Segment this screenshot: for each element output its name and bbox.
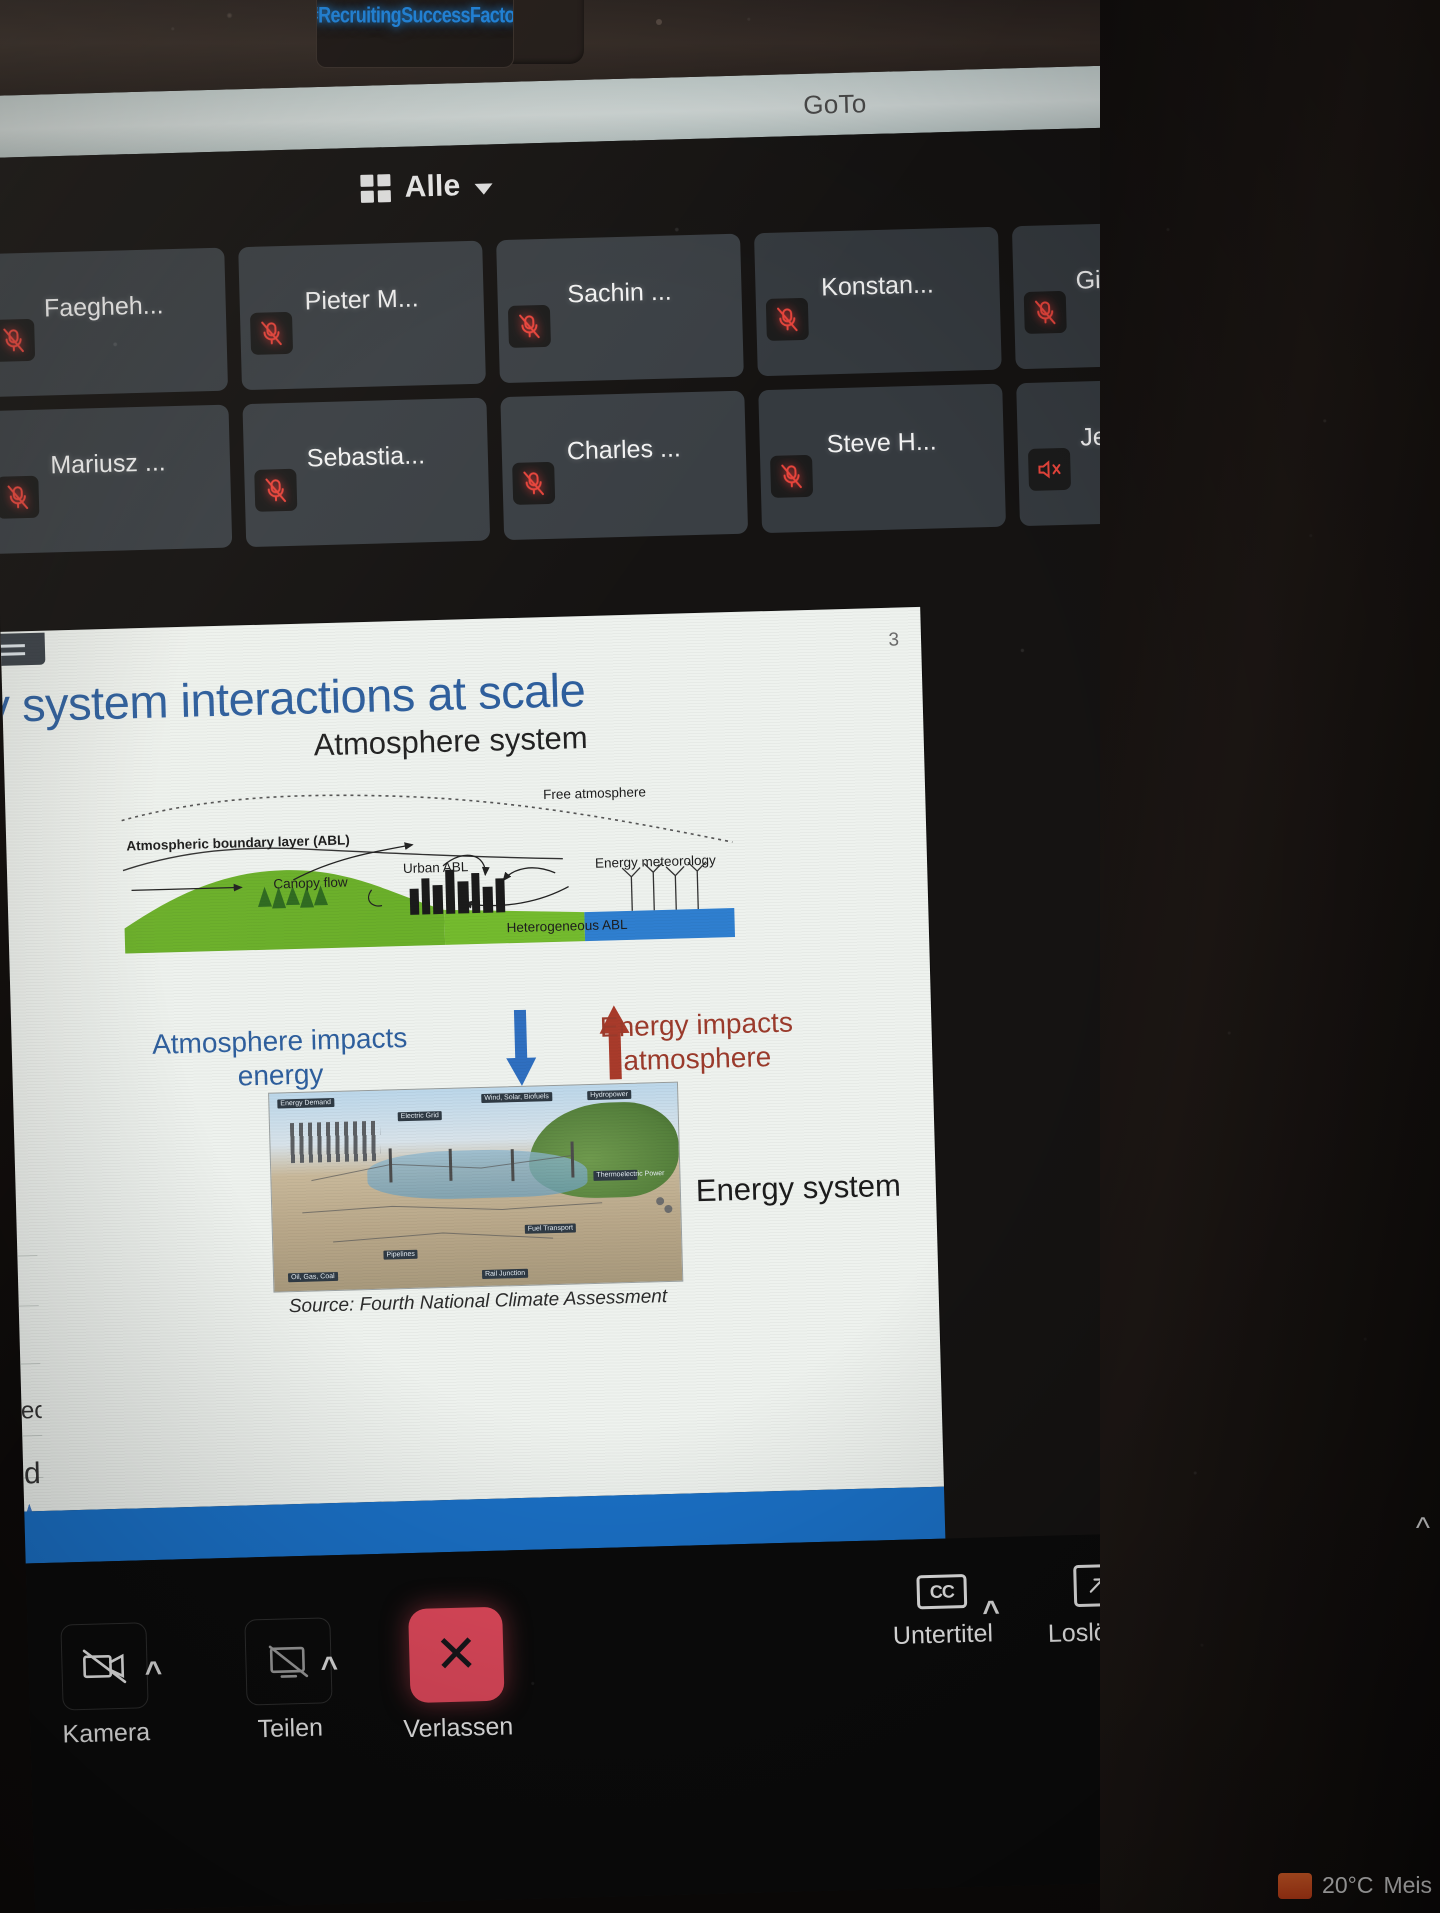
sensor-dot-icon (656, 19, 662, 25)
caption-atmosphere-impacts-energy: Atmosphere impacts energy (149, 1021, 411, 1096)
laptop-screen-photo: #RecruitingSuccessFactor GoTo Alle Faegh… (0, 0, 1440, 1913)
share-label: Teilen (220, 1712, 361, 1745)
share-options-caret[interactable]: ^ (320, 1651, 338, 1685)
participant-tile[interactable]: Faegheh... (0, 248, 228, 398)
meeting-controls-toolbar: Kamera ^ Teilen ^ ✕ Verlassen CC Unterti… (26, 1530, 1231, 1912)
energy-system-illustration: Energy Demand Electric Grid Wind, Solar,… (268, 1082, 683, 1293)
mic-muted-icon (770, 455, 813, 498)
caption-right-line2: atmosphere (562, 1039, 833, 1080)
participant-name: Faegheh... (0, 290, 226, 326)
chevron-down-icon[interactable] (474, 183, 492, 194)
participant-tile[interactable]: Konstan... (754, 227, 1002, 377)
leave-control[interactable]: ✕ Verlassen (375, 1606, 539, 1745)
camera-options-caret[interactable]: ^ (144, 1656, 162, 1690)
participant-tile[interactable]: Mariusz ... (0, 405, 232, 555)
mic-muted-icon (250, 312, 293, 355)
view-switcher-label: Alle (404, 169, 461, 204)
mic-muted-icon (512, 462, 555, 505)
weather-icon (1278, 1873, 1312, 1899)
slide-title: nergy system interactions at scale (0, 656, 795, 735)
audio-off-icon (1028, 448, 1071, 491)
share-control[interactable]: Teilen (217, 1617, 360, 1746)
webcam-icon (226, 12, 233, 19)
illustration-lines (269, 1083, 683, 1293)
grid-icon (360, 174, 391, 203)
label-canopy-flow: Canopy flow (273, 875, 348, 892)
mic-muted-icon (766, 298, 809, 341)
slide-page-number: 3 (888, 630, 899, 652)
fragment-wind: rd Wind (0, 1457, 41, 1494)
slide-subtitle: Atmosphere system (313, 720, 588, 763)
fragment-rice-projections: rice projections (0, 1395, 57, 1427)
participant-tile[interactable]: Sachin ... (496, 234, 744, 384)
cc-icon[interactable]: CC (916, 1574, 967, 1609)
mic-muted-icon (254, 469, 297, 512)
weather-text: Meis (1383, 1872, 1432, 1899)
caption-left-line1: Atmosphere impacts (149, 1021, 410, 1062)
label-urban-abl: Urban ABL (403, 859, 469, 876)
participant-tile[interactable]: Steve H... (758, 384, 1006, 534)
participant-grid: Faegheh... Pieter M... Sachin ... (0, 220, 1231, 554)
mic-muted-icon (1024, 291, 1067, 334)
desk-dust (1100, 0, 1440, 1913)
hashtag-banner-text: #RecruitingSuccessFactor (316, 2, 514, 28)
goto-meeting-app: Alle Faegheh... Pieter M... (0, 124, 1231, 1912)
mic-muted-icon (0, 476, 39, 519)
background-slide-fragments: rice projections rd Wind ★ 2022 2023 202… (0, 1105, 57, 1514)
hashtag-banner-panel: #RecruitingSuccessFactor (316, 0, 514, 68)
tray-chevron-icon[interactable]: ^ (1416, 1512, 1430, 1546)
camera-off-icon[interactable] (60, 1622, 148, 1710)
leave-label: Verlassen (378, 1712, 539, 1745)
camera-label: Kamera (36, 1717, 177, 1750)
mic-muted-icon (508, 305, 551, 348)
mic-muted-icon (0, 319, 35, 362)
source-note: Source: Fourth National Climate Assessme… (289, 1286, 668, 1318)
caption-energy-system: Energy system (695, 1168, 901, 1210)
screen-surface: GoTo Alle Faegheh... Pieter M... (0, 64, 1231, 1913)
participant-tile[interactable]: Charles ... (500, 391, 748, 541)
label-free-atmosphere: Free atmosphere (543, 784, 646, 802)
shared-presentation-slide: rice projections rd Wind ★ 2022 2023 202… (0, 607, 944, 1514)
desk-surface: ^ 20°C Meis (1100, 0, 1440, 1913)
view-switcher[interactable]: Alle (360, 168, 493, 206)
participant-tile[interactable]: Sebastia... (242, 398, 490, 548)
atmosphere-diagram: Free atmosphere Atmospheric boundary lay… (111, 762, 756, 969)
slide-menu-icon[interactable] (0, 633, 45, 667)
captions-options-caret[interactable]: ^ (982, 1595, 1000, 1629)
window-title: GoTo (803, 88, 867, 121)
caption-energy-impacts-atmosphere: Energy impacts atmosphere (561, 1004, 833, 1080)
screen-share-icon[interactable] (244, 1617, 332, 1705)
close-x-icon[interactable]: ✕ (408, 1607, 505, 1704)
participant-tile[interactable]: Pieter M... (238, 241, 486, 391)
arrow-down-icon (503, 1009, 539, 1088)
weather-temp: 20°C (1322, 1872, 1373, 1899)
weather-widget[interactable]: 20°C Meis (1278, 1872, 1432, 1899)
